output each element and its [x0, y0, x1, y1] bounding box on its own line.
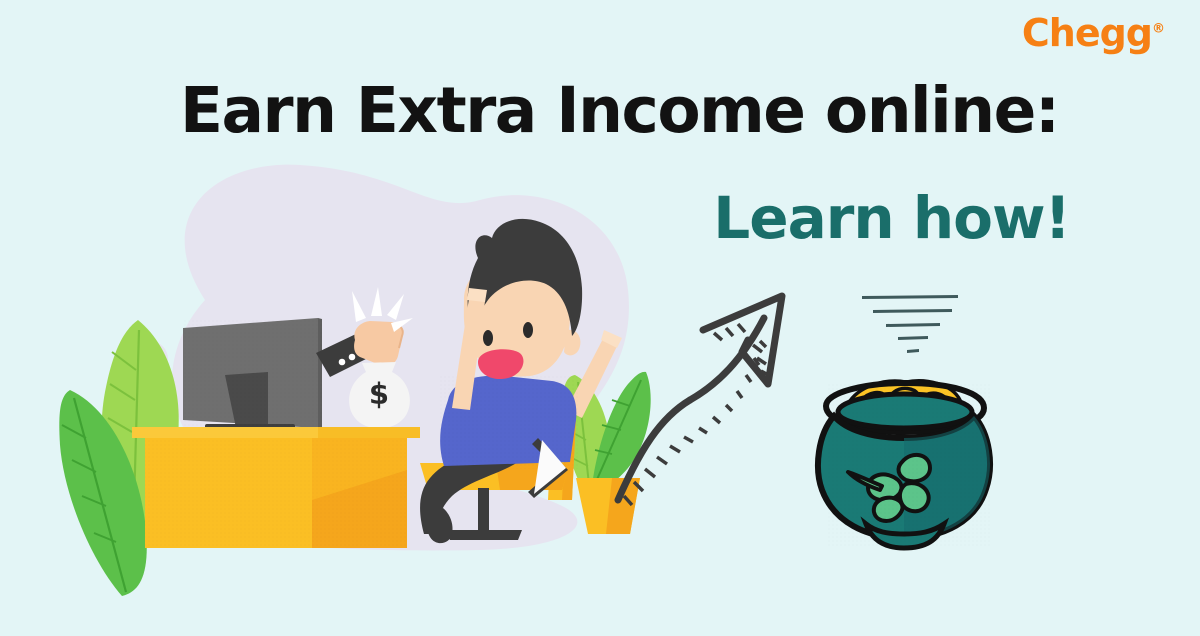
registered-trademark-icon: ® [1152, 21, 1164, 36]
chegg-logo[interactable]: Chegg® [1022, 14, 1164, 52]
pot-of-gold [818, 381, 990, 548]
money-bag-symbol: $ [369, 377, 389, 411]
headline-line-1: Earn Extra Income online: [180, 78, 1070, 144]
logo-wordmark: Chegg [1022, 11, 1152, 55]
speed-lines [862, 295, 958, 353]
headline-line-2: Learn how! [180, 188, 1070, 249]
desk [132, 427, 420, 548]
computer-monitor [183, 318, 323, 433]
promo-banner: $ [0, 0, 1200, 636]
